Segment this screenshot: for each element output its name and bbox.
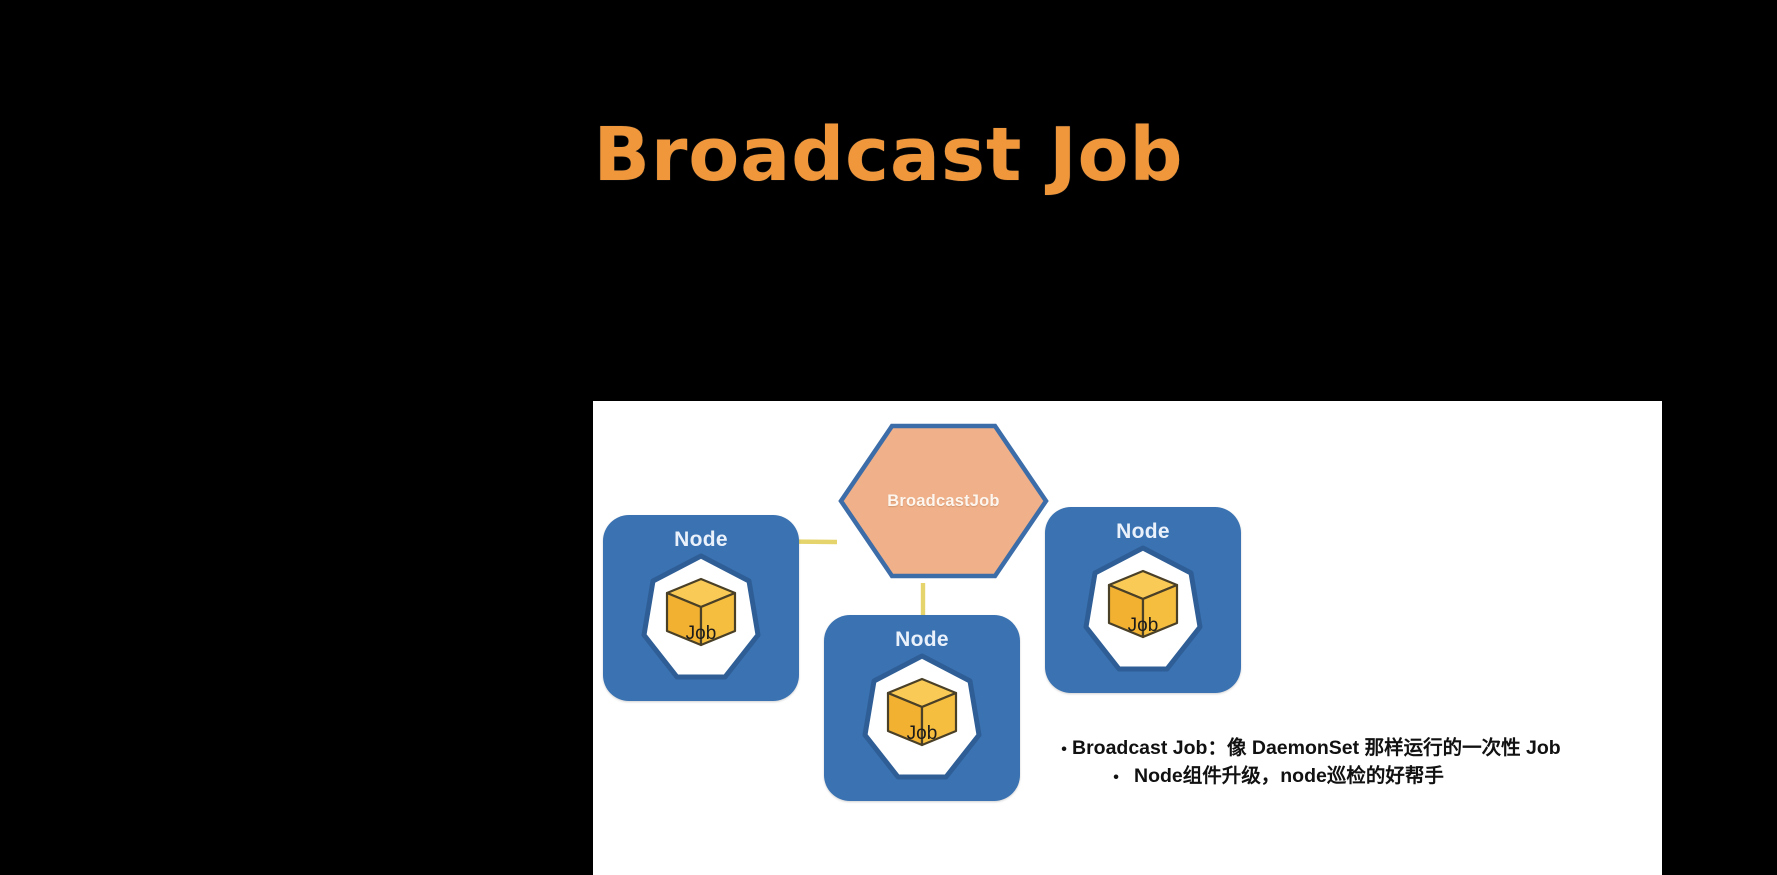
broadcastjob-hexagon[interactable]: BroadcastJob [837, 422, 1050, 580]
package-box-icon [639, 551, 763, 685]
bullet-marker-icon: • [1108, 766, 1124, 789]
diagram-panel: BroadcastJob Node Job Node [593, 401, 1662, 875]
list-item: • Broadcast Job：像 DaemonSet 那样运行的一次性 Job [1056, 734, 1656, 762]
k8s-job-badge [639, 551, 763, 685]
node-label: Node [603, 528, 799, 552]
job-label: Job [824, 723, 1020, 745]
page-title: Broadcast Job [0, 118, 1777, 192]
package-box-icon [1081, 543, 1205, 677]
bullet-marker-icon: • [1056, 738, 1072, 761]
node-card-middle[interactable]: Node Job [824, 615, 1020, 801]
bullet-list: • Broadcast Job：像 DaemonSet 那样运行的一次性 Job… [1056, 734, 1656, 791]
bullet-text: Broadcast Job：像 DaemonSet 那样运行的一次性 Job [1072, 734, 1561, 762]
job-label: Job [1045, 615, 1241, 637]
slide-canvas: Broadcast Job BroadcastJob Node [0, 0, 1777, 875]
job-label: Job [603, 623, 799, 645]
list-item: • Node组件升级，node巡检的好帮手 [1108, 762, 1656, 790]
node-card-right[interactable]: Node Job [1045, 507, 1241, 693]
bullet-text: Node组件升级，node巡检的好帮手 [1124, 762, 1444, 790]
node-label: Node [1045, 520, 1241, 544]
node-card-left[interactable]: Node Job [603, 515, 799, 701]
node-label: Node [824, 628, 1020, 652]
k8s-job-badge [1081, 543, 1205, 677]
hexagon-shape [837, 422, 1050, 580]
package-box-icon [860, 651, 984, 785]
k8s-job-badge [860, 651, 984, 785]
